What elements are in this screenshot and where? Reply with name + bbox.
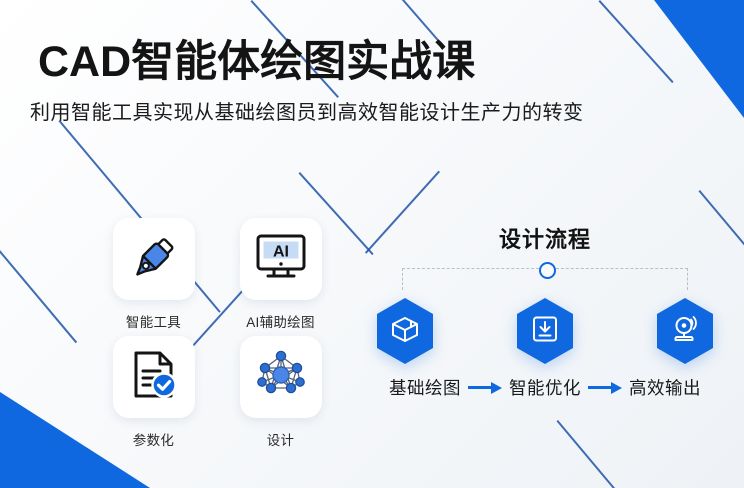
- feature-card-design[interactable]: 设计: [217, 336, 344, 454]
- flow-step-icons: [360, 296, 730, 366]
- ai-monitor-icon: AI: [254, 231, 308, 288]
- flow-label-efficient-output: 高效输出: [629, 375, 701, 400]
- cube-box-icon: [390, 314, 420, 349]
- card-tile: [113, 336, 195, 418]
- feature-card-label: 设计: [217, 429, 344, 449]
- feature-card-grid: 智能工具 AI AI辅助绘图: [90, 218, 344, 454]
- feature-card-parametric[interactable]: 参数化: [90, 336, 217, 454]
- design-flow-section: 设计流程: [360, 222, 730, 400]
- network-graph-icon: [254, 348, 308, 407]
- flow-step-efficient-output[interactable]: [654, 296, 716, 366]
- poster-canvas: CAD智能体绘图实战课 利用智能工具实现从基础绘图员到高效智能设计生产力的转变: [0, 0, 744, 488]
- flow-label-smart-optimize: 智能优化: [509, 375, 581, 400]
- diagonal-line-9: [557, 420, 635, 488]
- card-tile: AI: [240, 218, 322, 300]
- flow-connector-bracket: [402, 268, 688, 294]
- arrow-right-icon: [588, 382, 622, 394]
- flow-label-basic-drawing: 基础绘图: [389, 375, 461, 400]
- card-tile: [240, 336, 322, 418]
- bracket-right-tick: [687, 268, 688, 290]
- pen-tool-icon: [128, 231, 180, 288]
- header-block: CAD智能体绘图实战课 利用智能工具实现从基础绘图员到高效智能设计生产力的转变: [0, 40, 744, 125]
- feature-card-smart-tools[interactable]: 智能工具: [90, 218, 217, 336]
- flow-step-smart-optimize[interactable]: [514, 296, 576, 366]
- feature-card-label: 参数化: [90, 429, 217, 449]
- location-pin-icon: [670, 314, 700, 349]
- download-document-icon: [530, 314, 560, 349]
- bracket-left-tick: [402, 268, 403, 290]
- bracket-center-dot-icon: [539, 262, 556, 279]
- feature-card-label: AI辅助绘图: [217, 311, 344, 331]
- feature-card-label: 智能工具: [90, 311, 217, 331]
- flow-title: 设计流程: [360, 222, 730, 254]
- feature-card-ai-drawing[interactable]: AI AI辅助绘图: [217, 218, 344, 336]
- flow-step-labels: 基础绘图 智能优化 高效输出: [360, 375, 730, 400]
- document-check-icon: [128, 349, 180, 406]
- svg-text:AI: AI: [273, 243, 289, 260]
- arrow-right-icon: [468, 382, 502, 394]
- diagonal-line-7: [0, 250, 77, 343]
- card-tile: [113, 218, 195, 300]
- flow-step-basic-drawing[interactable]: [374, 296, 436, 366]
- page-title: CAD智能体绘图实战课: [38, 40, 744, 86]
- page-subtitle: 利用智能工具实现从基础绘图员到高效智能设计生产力的转变: [30, 96, 744, 125]
